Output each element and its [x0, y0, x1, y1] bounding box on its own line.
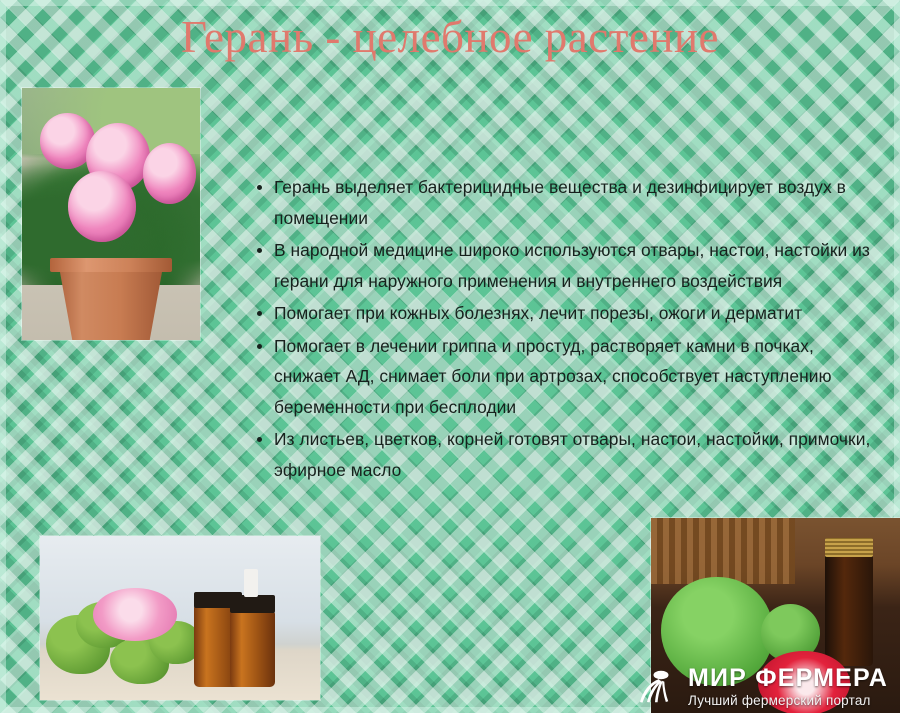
bottle-cap: [230, 595, 275, 613]
terracotta-pot: [54, 264, 168, 340]
list-item-text: Помогает при кожных болезнях, лечит поре…: [274, 303, 802, 323]
list-item: В народной медицине широко используются …: [252, 235, 882, 296]
list-item: Герань выделяет бактерицидные вещества и…: [252, 172, 882, 233]
dropper-pipette: [244, 569, 258, 597]
bottle-cap: [825, 538, 872, 558]
list-item: Из листьев, цветков, корней готовят отва…: [252, 424, 882, 485]
watermark-logo[interactable]: МИР ФЕРМЕРА Лучший фермерский портал: [639, 666, 888, 708]
watermark-subtitle: Лучший фермерский портал: [688, 694, 888, 708]
bullet-dot-icon: [257, 185, 262, 190]
amber-oil-bottle: [230, 611, 275, 686]
watermark-text-block: МИР ФЕРМЕРА Лучший фермерский портал: [688, 666, 888, 708]
list-item: Помогает при кожных болезнях, лечит поре…: [252, 298, 882, 329]
list-item-text: Помогает в лечении гриппа и простуд, рас…: [274, 336, 832, 417]
bullet-dot-icon: [257, 311, 262, 316]
wicker-basket: [651, 518, 795, 584]
bullet-dot-icon: [257, 344, 262, 349]
page-title: Герань - целебное растение: [0, 8, 900, 66]
terracotta-pot-rim: [50, 258, 171, 272]
slide-canvas: Герань - целебное растение Герань выделя…: [0, 0, 900, 713]
benefits-list: Герань выделяет бактерицидные вещества и…: [252, 172, 882, 487]
list-item-text: В народной медицине широко используются …: [274, 240, 870, 291]
watermark-title: МИР ФЕРМЕРА: [688, 666, 888, 691]
bullet-dot-icon: [257, 248, 262, 253]
list-item: Помогает в лечении гриппа и простуд, рас…: [252, 331, 882, 423]
bullet-dot-icon: [257, 437, 262, 442]
list-item-text: Герань выделяет бактерицидные вещества и…: [274, 177, 846, 228]
list-item-text: Из листьев, цветков, корней готовят отва…: [274, 429, 870, 480]
geranium-bloom: [143, 143, 196, 203]
photo-geranium-essential-oil-bottles: [40, 536, 320, 700]
geranium-bloom: [68, 171, 136, 242]
leaf-icon: [639, 666, 679, 706]
photo-potted-pink-geranium: [22, 88, 200, 340]
dark-oil-bottle: [825, 553, 872, 666]
pink-geranium-flower: [93, 588, 177, 640]
